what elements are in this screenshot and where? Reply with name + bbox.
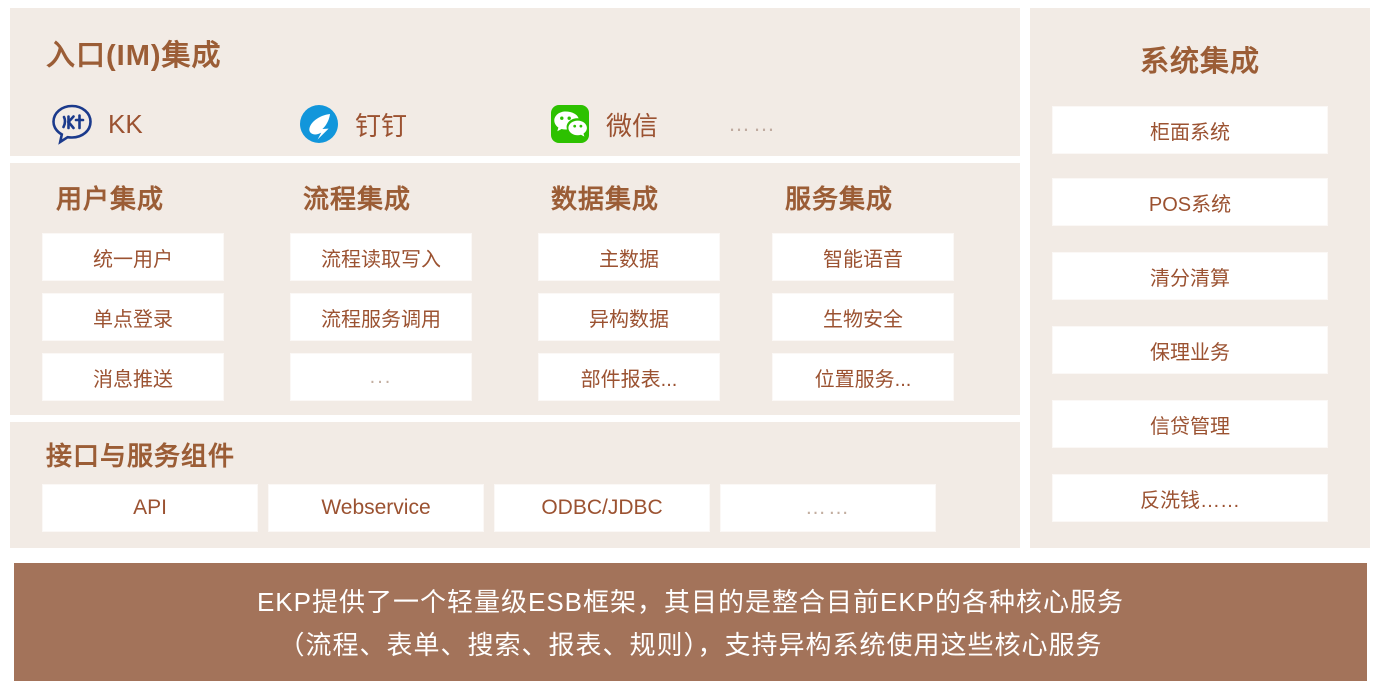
chip-process-0[interactable]: 流程读取写入	[290, 233, 472, 281]
im-label-dingtalk: 钉钉	[355, 106, 407, 143]
chip-interface-odbc-jdbc[interactable]: ODBC/JDBC	[494, 484, 710, 532]
chip-service-0[interactable]: 智能语音	[772, 233, 954, 281]
column-title-user: 用户集成	[56, 179, 164, 216]
chip-system-1[interactable]: POS系统	[1052, 178, 1328, 226]
column-title-process: 流程集成	[303, 179, 411, 216]
chip-system-3[interactable]: 保理业务	[1052, 326, 1328, 374]
chip-system-0[interactable]: 柜面系统	[1052, 106, 1328, 154]
wechat-icon	[548, 102, 592, 146]
chip-system-2[interactable]: 清分清算	[1052, 252, 1328, 300]
chip-interface-more[interactable]: ……	[720, 484, 936, 532]
interface-components-panel: 接口与服务组件 API Webservice ODBC/JDBC ……	[10, 422, 1020, 548]
chip-user-2[interactable]: 消息推送	[42, 353, 224, 401]
chip-process-2[interactable]: ...	[290, 353, 472, 401]
chip-interface-webservice[interactable]: Webservice	[268, 484, 484, 532]
entry-panel-title: 入口(IM)集成	[46, 32, 222, 74]
diagram-canvas: 入口(IM)集成 KK	[0, 0, 1381, 684]
entry-im-panel: 入口(IM)集成 KK	[10, 8, 1020, 156]
im-more-ellipsis: ……	[728, 111, 778, 137]
banner-line-1: EKP提供了一个轻量级ESB框架，其目的是整合目前EKP的各种核心服务	[257, 582, 1124, 619]
chip-service-2[interactable]: 位置服务...	[772, 353, 954, 401]
column-title-data: 数据集成	[551, 179, 659, 216]
banner-line-2: （流程、表单、搜索、报表、规则），支持异构系统使用这些核心服务	[278, 625, 1102, 662]
system-integration-panel: 系统集成 柜面系统 POS系统 清分清算 保理业务 信贷管理 反洗钱……	[1030, 8, 1370, 548]
chip-data-0[interactable]: 主数据	[538, 233, 720, 281]
chip-system-4[interactable]: 信贷管理	[1052, 400, 1328, 448]
im-item-wechat[interactable]: 微信	[548, 102, 658, 146]
chip-system-5[interactable]: 反洗钱……	[1052, 474, 1328, 522]
summary-banner: EKP提供了一个轻量级ESB框架，其目的是整合目前EKP的各种核心服务 （流程、…	[14, 563, 1367, 681]
im-item-dingtalk[interactable]: 钉钉	[297, 102, 407, 146]
interface-panel-title: 接口与服务组件	[46, 436, 235, 473]
im-label-wechat: 微信	[606, 106, 658, 143]
integration-columns-panel: 用户集成 统一用户 单点登录 消息推送 流程集成 流程读取写入 流程服务调用 .…	[10, 163, 1020, 415]
im-label-kk: KK	[108, 109, 143, 140]
chip-data-2[interactable]: 部件报表...	[538, 353, 720, 401]
dingtalk-icon	[297, 102, 341, 146]
kk-icon	[50, 102, 94, 146]
column-title-service: 服务集成	[785, 179, 893, 216]
system-panel-title: 系统集成	[1030, 38, 1370, 80]
chip-user-0[interactable]: 统一用户	[42, 233, 224, 281]
chip-interface-api[interactable]: API	[42, 484, 258, 532]
chip-user-1[interactable]: 单点登录	[42, 293, 224, 341]
im-item-kk[interactable]: KK	[50, 102, 143, 146]
chip-process-1[interactable]: 流程服务调用	[290, 293, 472, 341]
chip-service-1[interactable]: 生物安全	[772, 293, 954, 341]
chip-data-1[interactable]: 异构数据	[538, 293, 720, 341]
